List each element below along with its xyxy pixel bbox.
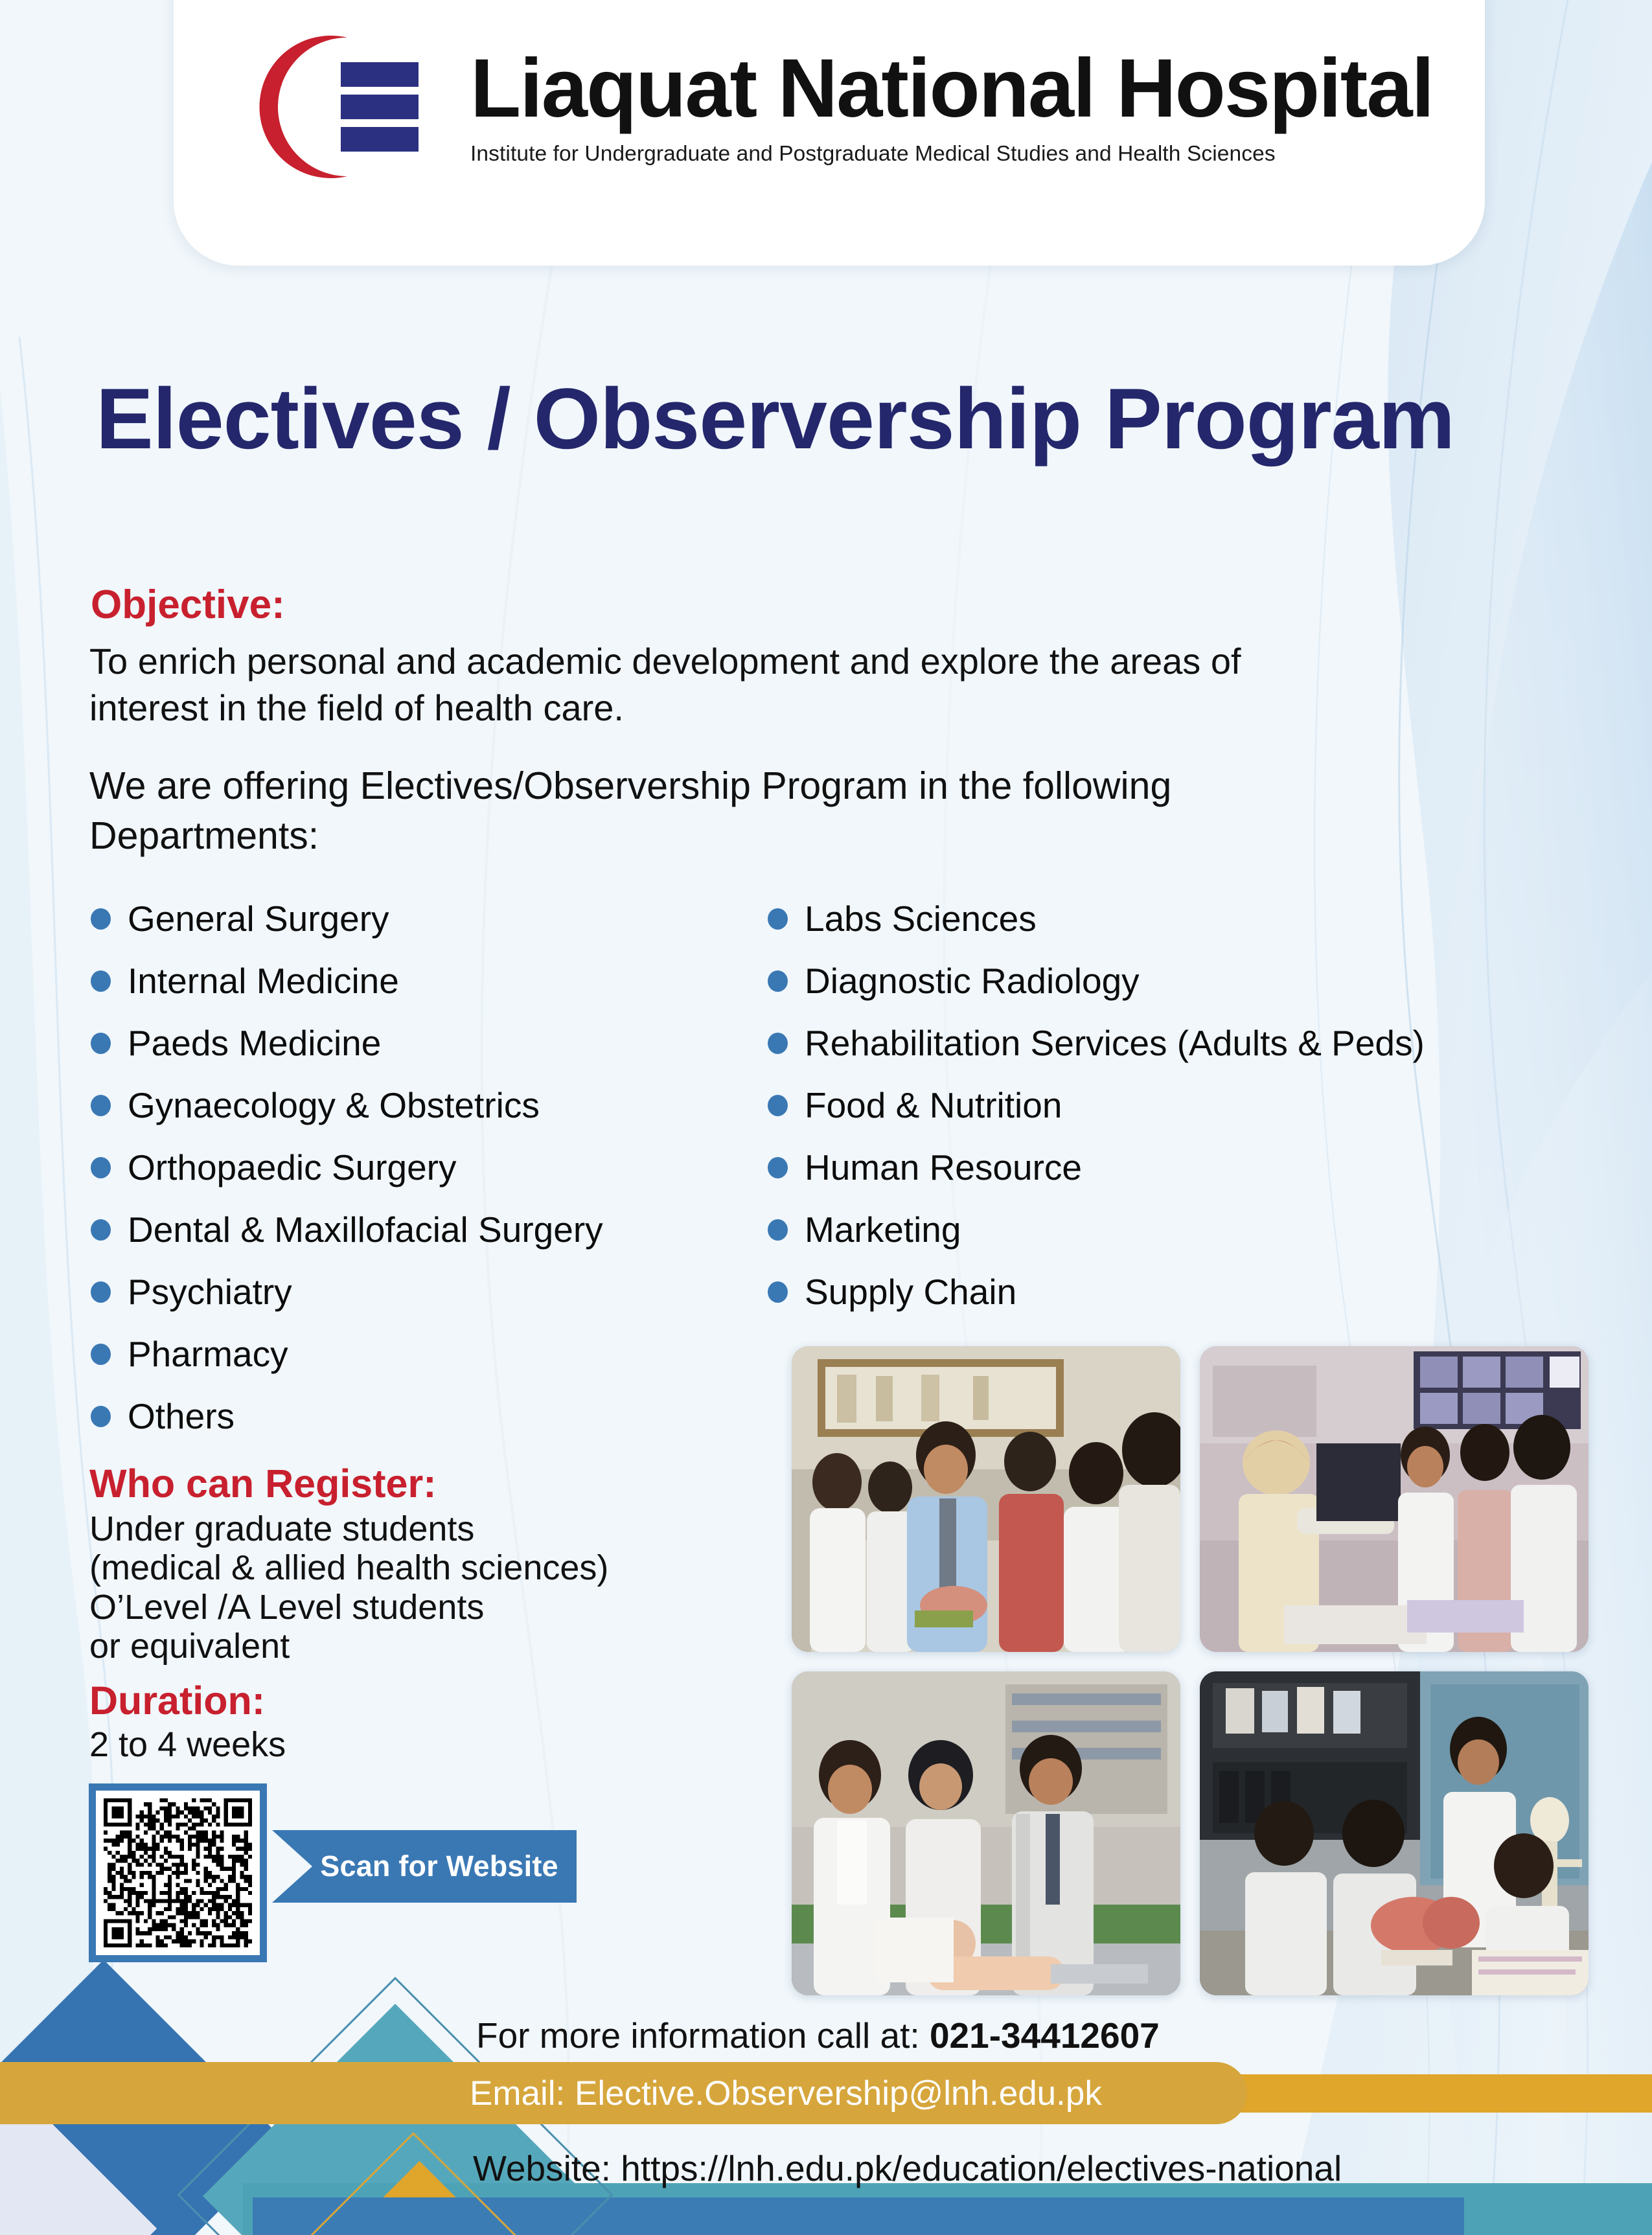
list-item: Others bbox=[91, 1385, 603, 1447]
department-label: Psychiatry bbox=[128, 1274, 292, 1310]
list-item: Supply Chain bbox=[768, 1261, 1425, 1323]
list-item: Orthopaedic Surgery bbox=[91, 1136, 603, 1198]
scan-banner-label: Scan for Website bbox=[320, 1850, 558, 1883]
register-line-2: (medical & allied health sciences) bbox=[89, 1548, 608, 1587]
offering-text: We are offering Electives/Observership P… bbox=[89, 761, 1411, 860]
bullet-icon bbox=[91, 1281, 111, 1303]
bullet-icon bbox=[768, 970, 788, 992]
list-item: Internal Medicine bbox=[91, 950, 603, 1012]
register-heading: Who can Register: bbox=[89, 1461, 437, 1506]
department-label: Marketing bbox=[805, 1212, 961, 1248]
contact-email-label: Email: Elective.Observership@lnh.edu.pk bbox=[470, 2074, 1102, 2113]
department-label: Diagnostic Radiology bbox=[805, 963, 1140, 999]
department-label: Supply Chain bbox=[805, 1274, 1016, 1310]
qr-code-icon[interactable] bbox=[89, 1783, 267, 1962]
photo-organ-model-study bbox=[1200, 1671, 1589, 1995]
list-item: General Surgery bbox=[91, 888, 603, 950]
department-label: Human Resource bbox=[805, 1150, 1082, 1186]
bullet-icon bbox=[91, 1095, 111, 1116]
bullet-icon bbox=[768, 1033, 788, 1054]
bullet-icon bbox=[91, 908, 111, 930]
department-label: Others bbox=[128, 1399, 235, 1434]
department-label: Gynaecology & Obstetrics bbox=[128, 1088, 540, 1123]
bullet-icon bbox=[91, 1344, 111, 1365]
department-label: Labs Sciences bbox=[805, 901, 1037, 937]
poster-canvas: Liaquat National Hospital Institute for … bbox=[0, 0, 1652, 2235]
hospital-logo: Liaquat National Hospital Institute for … bbox=[251, 26, 1433, 188]
objective-heading: Objective: bbox=[91, 582, 285, 628]
scan-for-website-button[interactable]: Scan for Website bbox=[272, 1830, 577, 1903]
duration-heading: Duration: bbox=[89, 1678, 265, 1723]
crescent-bars-logo-icon bbox=[251, 26, 465, 188]
list-item: Gynaecology & Obstetrics bbox=[91, 1074, 603, 1136]
departments-right-column: Labs Sciences Diagnostic Radiology Rehab… bbox=[768, 888, 1425, 1323]
bullet-icon bbox=[91, 1033, 111, 1054]
logo-subtitle: Institute for Undergraduate and Postgrad… bbox=[470, 142, 1433, 166]
department-label: Pharmacy bbox=[128, 1336, 288, 1372]
bullet-icon bbox=[91, 1406, 111, 1427]
bullet-icon bbox=[91, 970, 111, 992]
bullet-icon bbox=[91, 1157, 111, 1178]
department-label: General Surgery bbox=[128, 901, 389, 937]
bullet-icon bbox=[768, 1157, 788, 1178]
department-label: Food & Nutrition bbox=[805, 1088, 1062, 1123]
photo-neonatal-simulation bbox=[792, 1671, 1180, 1995]
contact-email-banner[interactable]: Email: Elective.Observership@lnh.edu.pk bbox=[0, 2062, 1247, 2124]
bullet-icon bbox=[768, 908, 788, 930]
register-details: Under graduate students (medical & allie… bbox=[89, 1509, 608, 1666]
list-item: Labs Sciences bbox=[768, 888, 1425, 950]
contact-call-prefix: For more information call at: bbox=[476, 2015, 930, 2056]
list-item: Human Resource bbox=[768, 1136, 1425, 1198]
list-item: Food & Nutrition bbox=[768, 1074, 1425, 1136]
register-line-1: Under graduate students bbox=[89, 1509, 608, 1548]
bullet-icon bbox=[91, 1219, 111, 1241]
register-line-3: O’Level /A Level students bbox=[89, 1588, 608, 1627]
duration-value: 2 to 4 weeks bbox=[89, 1725, 286, 1764]
department-label: Orthopaedic Surgery bbox=[128, 1150, 457, 1186]
list-item: Paeds Medicine bbox=[91, 1012, 603, 1074]
objective-text: To enrich personal and academic developm… bbox=[89, 638, 1320, 731]
bullet-icon bbox=[768, 1095, 788, 1116]
list-item: Diagnostic Radiology bbox=[768, 950, 1425, 1012]
department-label: Internal Medicine bbox=[128, 963, 399, 999]
header-card: Liaquat National Hospital Institute for … bbox=[174, 0, 1485, 266]
list-item: Pharmacy bbox=[91, 1323, 603, 1385]
bullet-icon bbox=[768, 1281, 788, 1303]
contact-phone-number: 021-34412607 bbox=[930, 2015, 1160, 2056]
list-item: Marketing bbox=[768, 1198, 1425, 1261]
photo-anatomy-demo bbox=[792, 1346, 1180, 1652]
register-line-4: or equivalent bbox=[89, 1627, 608, 1666]
contact-website-label[interactable]: Website: https://lnh.edu.pk/education/el… bbox=[473, 2148, 1342, 2189]
department-label: Rehabilitation Services (Adults & Peds) bbox=[805, 1026, 1425, 1061]
list-item: Rehabilitation Services (Adults & Peds) bbox=[768, 1012, 1425, 1074]
departments-left-column: General Surgery Internal Medicine Paeds … bbox=[91, 888, 603, 1447]
list-item: Psychiatry bbox=[91, 1261, 603, 1323]
page-title: Electives / Observership Program bbox=[96, 374, 1454, 465]
contact-phone-line: For more information call at: 021-344126… bbox=[476, 2015, 1160, 2056]
department-label: Dental & Maxillofacial Surgery bbox=[128, 1212, 603, 1248]
list-item: Dental & Maxillofacial Surgery bbox=[91, 1198, 603, 1261]
bullet-icon bbox=[768, 1219, 788, 1241]
department-label: Paeds Medicine bbox=[128, 1026, 381, 1061]
logo-title: Liaquat National Hospital bbox=[470, 47, 1433, 130]
photo-radiology-xray bbox=[1200, 1346, 1589, 1652]
